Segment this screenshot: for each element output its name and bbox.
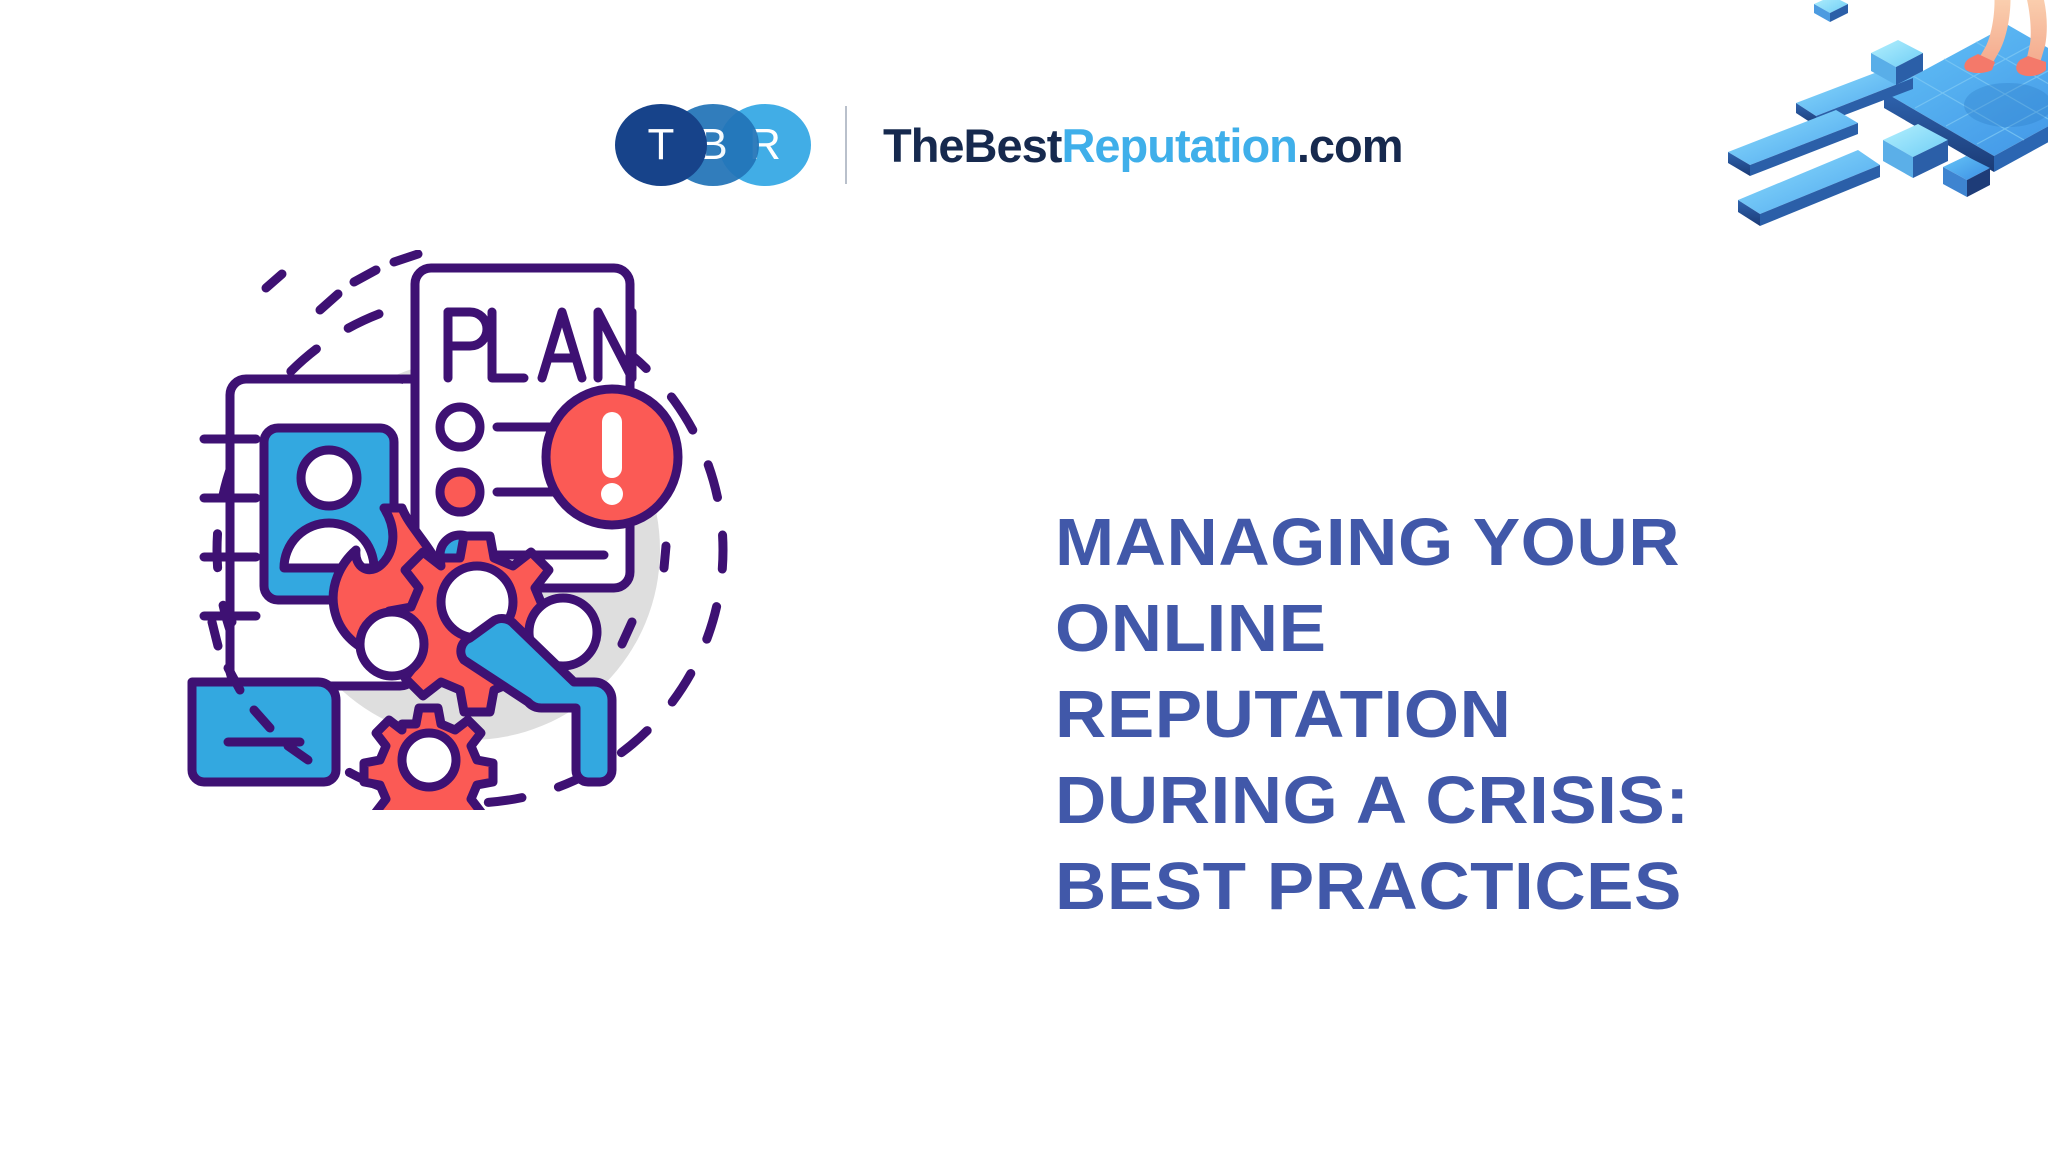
wordmark-reputation: Reputation bbox=[1061, 119, 1296, 172]
gear-small bbox=[364, 708, 493, 810]
logo-letter-t: T bbox=[648, 120, 675, 170]
wordmark-dotcom: .com bbox=[1297, 119, 1403, 172]
headline-line-3: REPUTATION bbox=[1055, 672, 1882, 758]
brand-wordmark: TheBestReputation.com bbox=[883, 122, 1403, 169]
headline-line-5: BEST PRACTICES bbox=[1055, 844, 1882, 930]
iso-plank-1 bbox=[1796, 66, 1913, 126]
iso-plank-3 bbox=[1738, 150, 1880, 226]
brand-lockup[interactable]: T B R TheBestReputation.com bbox=[615, 100, 1403, 190]
iso-cube-3 bbox=[1943, 156, 1990, 197]
isometric-blocks-svg bbox=[1708, 0, 2048, 240]
headline-line-4: DURING A CRISIS: bbox=[1055, 758, 1882, 844]
isometric-blocks-decoration bbox=[1708, 0, 2048, 240]
person-figure-desk bbox=[192, 682, 336, 782]
figure-legs bbox=[1964, 0, 2046, 76]
logo-circle-t: T bbox=[615, 104, 707, 186]
page-title: MANAGING YOUR ONLINE REPUTATION DURING A… bbox=[1055, 500, 1882, 930]
headline-line-2: ONLINE bbox=[1055, 586, 1882, 672]
person-figure-head-left bbox=[360, 612, 424, 676]
tbr-logo-mark[interactable]: T B R bbox=[615, 104, 815, 186]
alert-exclamation-icon bbox=[546, 389, 678, 525]
headline-line-1: MANAGING YOUR bbox=[1055, 500, 1882, 586]
illustration-svg bbox=[170, 250, 730, 810]
iso-plank-2 bbox=[1728, 110, 1858, 176]
iso-cube-2 bbox=[1883, 124, 1948, 178]
iso-platform bbox=[1884, 25, 2048, 172]
iso-cube-1 bbox=[1814, 0, 1848, 22]
iso-cube-4 bbox=[1871, 40, 1923, 85]
brand-divider bbox=[845, 106, 847, 184]
crisis-reputation-illustration bbox=[170, 250, 730, 810]
wordmark-thebest: TheBest bbox=[883, 119, 1061, 172]
